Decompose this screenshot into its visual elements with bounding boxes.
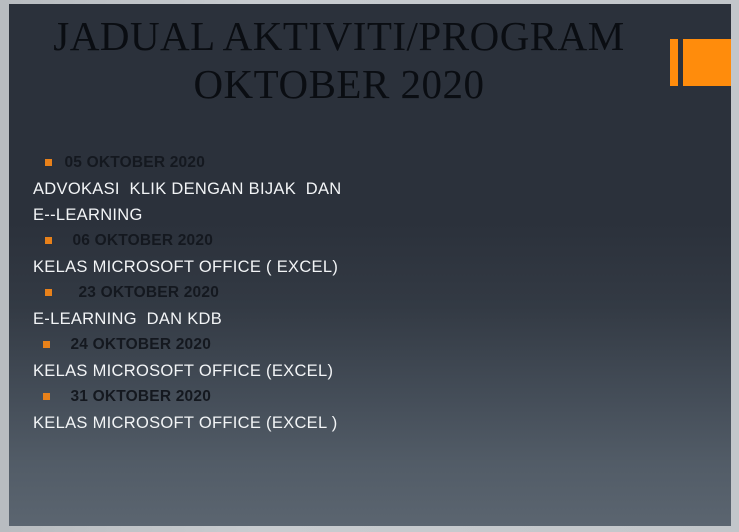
activity-description-line-2: E--LEARNING bbox=[25, 202, 625, 228]
date-heading-row: 31 OKTOBER 2020 bbox=[25, 384, 625, 410]
date-heading-row: 23 OKTOBER 2020 bbox=[25, 280, 625, 306]
date-heading-label: 31 OKTOBER 2020 bbox=[56, 384, 211, 410]
slide-title-line-2: OKTOBER 2020 bbox=[9, 60, 669, 108]
date-heading-row: 06 OKTOBER 2020 bbox=[25, 228, 625, 254]
activity-description-line: ADVOKASI KLIK DENGAN BIJAK DAN bbox=[25, 176, 625, 202]
date-heading-label: 06 OKTOBER 2020 bbox=[58, 228, 213, 254]
square-bullet-icon bbox=[45, 159, 52, 166]
orange-accent-block-icon bbox=[683, 39, 731, 86]
list-item: 31 OKTOBER 2020 KELAS MICROSOFT OFFICE (… bbox=[25, 384, 625, 436]
date-heading-label: 05 OKTOBER 2020 bbox=[58, 150, 205, 176]
slide-title-line-1: JADUAL AKTIVITI/PROGRAM bbox=[9, 12, 669, 60]
list-item: 24 OKTOBER 2020 KELAS MICROSOFT OFFICE (… bbox=[25, 332, 625, 384]
square-bullet-icon bbox=[45, 289, 52, 296]
date-heading-row: 05 OKTOBER 2020 bbox=[25, 150, 625, 176]
activity-description-line: KELAS MICROSOFT OFFICE (EXCEL ) bbox=[25, 410, 625, 436]
date-heading-label: 24 OKTOBER 2020 bbox=[56, 332, 211, 358]
activity-description-line: KELAS MICROSOFT OFFICE (EXCEL) bbox=[25, 358, 625, 384]
activity-description-line: KELAS MICROSOFT OFFICE ( EXCEL) bbox=[25, 254, 625, 280]
slide-viewer-frame: JADUAL AKTIVITI/PROGRAM OKTOBER 2020 05 … bbox=[0, 0, 739, 532]
orange-decoration-group bbox=[656, 39, 731, 86]
slide-canvas: JADUAL AKTIVITI/PROGRAM OKTOBER 2020 05 … bbox=[9, 4, 731, 526]
list-item: 06 OKTOBER 2020 KELAS MICROSOFT OFFICE (… bbox=[25, 228, 625, 280]
list-item: 23 OKTOBER 2020 E-LEARNING DAN KDB bbox=[25, 280, 625, 332]
list-item: 05 OKTOBER 2020 ADVOKASI KLIK DENGAN BIJ… bbox=[25, 150, 625, 228]
slide-content-list: 05 OKTOBER 2020 ADVOKASI KLIK DENGAN BIJ… bbox=[25, 150, 625, 436]
date-heading-label: 23 OKTOBER 2020 bbox=[58, 280, 219, 306]
square-bullet-icon bbox=[43, 341, 50, 348]
activity-description-line: E-LEARNING DAN KDB bbox=[25, 306, 625, 332]
orange-accent-bar-icon bbox=[670, 39, 678, 86]
square-bullet-icon bbox=[45, 237, 52, 244]
date-heading-row: 24 OKTOBER 2020 bbox=[25, 332, 625, 358]
square-bullet-icon bbox=[43, 393, 50, 400]
slide-title: JADUAL AKTIVITI/PROGRAM OKTOBER 2020 bbox=[9, 12, 669, 108]
